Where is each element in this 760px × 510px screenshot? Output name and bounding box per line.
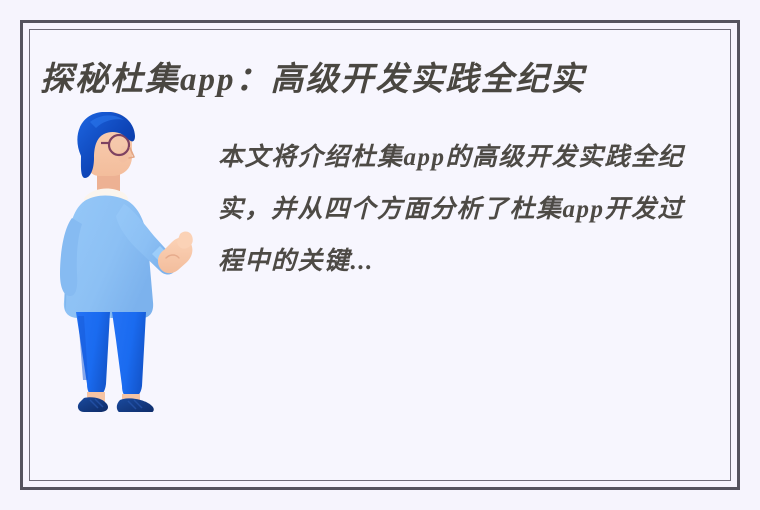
pointing-hand <box>158 232 193 274</box>
summary-line-2: 实，并从四个方面分析了杜集app开发过 <box>218 184 718 236</box>
pants-center-crease <box>109 314 114 398</box>
summary-line-1: 本文将介绍杜集app的高级开发实践全纪 <box>218 132 718 184</box>
summary-line-3: 程中的关键... <box>218 236 718 288</box>
article-summary: 本文将介绍杜集app的高级开发实践全纪 实，并从四个方面分析了杜集app开发过 … <box>218 132 718 288</box>
sweater-torso <box>64 196 153 319</box>
page-title: 探秘杜集app：高级开发实践全纪实 <box>40 58 720 102</box>
article-card: 探秘杜集app：高级开发实践全纪实 本文将介绍杜集app的高级开发实践全纪 实，… <box>0 0 760 510</box>
pants-right-leg <box>112 312 146 398</box>
person-pointing-illustration <box>50 112 220 412</box>
